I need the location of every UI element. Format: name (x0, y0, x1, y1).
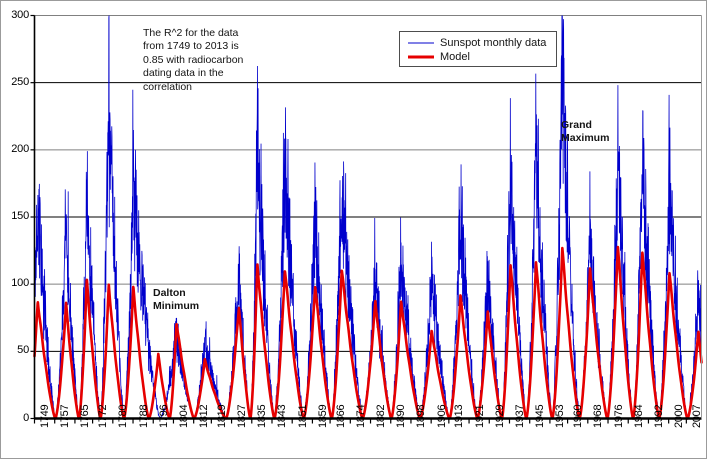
x-tick-label-1827: 1827 (236, 404, 248, 427)
legend-swatch-model-icon (406, 53, 436, 61)
chart-legend: Sunspot monthly data Model (399, 31, 557, 67)
x-tick-label-1804: 1804 (178, 404, 190, 427)
y-tick-label-50: 50 (3, 345, 29, 356)
legend-label-sunspot: Sunspot monthly data (440, 37, 546, 49)
y-tick-label-300: 300 (3, 10, 29, 21)
x-tick-label-1819: 1819 (216, 404, 228, 427)
x-tick-label-1780: 1780 (117, 404, 129, 427)
y-tick-label-150: 150 (3, 211, 29, 222)
legend-swatch-sunspot-icon (406, 39, 436, 47)
legend-item-sunspot-monthly-data: Sunspot monthly data (406, 36, 550, 50)
x-tick-label-1913: 1913 (453, 404, 465, 427)
x-tick-label-1968: 1968 (592, 404, 604, 427)
x-tick-label-1898: 1898 (415, 404, 427, 427)
x-tick-label-1929: 1929 (494, 404, 506, 427)
y-tick-label-100: 100 (3, 278, 29, 289)
series-line (35, 247, 702, 418)
annotation-r2-note: The R^2 for the data from 1749 to 2013 i… (143, 27, 255, 94)
sunspot-chart: 050100150200250300 174917571765177217801… (0, 0, 707, 459)
x-tick-label-1851: 1851 (297, 404, 309, 427)
x-tick-label-2007: 2007 (691, 404, 703, 427)
x-tick-label-1953: 1953 (554, 404, 566, 427)
x-tick-label-1772: 1772 (97, 404, 109, 427)
legend-item-model: Model (406, 50, 550, 64)
y-tick-label-200: 200 (3, 144, 29, 155)
x-tick-label-1835: 1835 (256, 404, 268, 427)
annotation-dalton-minimum: Dalton Minimum (153, 287, 199, 312)
annotation-grand-maximum: Grand Maximum (561, 119, 609, 144)
x-tick-label-1882: 1882 (375, 404, 387, 427)
x-tick-label-1874: 1874 (355, 404, 367, 427)
x-tick-label-1976: 1976 (613, 404, 625, 427)
x-tick-label-1937: 1937 (514, 404, 526, 427)
y-tick-label-250: 250 (3, 77, 29, 88)
legend-label-model: Model (440, 51, 470, 63)
x-tick-label-1866: 1866 (335, 404, 347, 427)
x-tick-label-1788: 1788 (138, 404, 150, 427)
x-tick-label-2000: 2000 (673, 404, 685, 427)
x-tick-label-1796: 1796 (158, 404, 170, 427)
x-tick-label-1765: 1765 (79, 404, 91, 427)
x-tick-label-1890: 1890 (395, 404, 407, 427)
y-tick-label-0: 0 (3, 413, 29, 424)
x-tick-label-1859: 1859 (317, 404, 329, 427)
x-tick-label-1843: 1843 (276, 404, 288, 427)
x-tick-label-1906: 1906 (436, 404, 448, 427)
x-tick-label-1812: 1812 (198, 404, 210, 427)
series-model (35, 247, 702, 418)
x-tick-label-1921: 1921 (474, 404, 486, 427)
x-tick-label-1757: 1757 (59, 404, 71, 427)
x-tick-label-1960: 1960 (572, 404, 584, 427)
x-tick-label-1984: 1984 (633, 404, 645, 427)
plot-area (1, 1, 707, 459)
x-tick-label-1749: 1749 (39, 404, 51, 427)
x-tick-label-1992: 1992 (653, 404, 665, 427)
x-tick-label-1945: 1945 (534, 404, 546, 427)
